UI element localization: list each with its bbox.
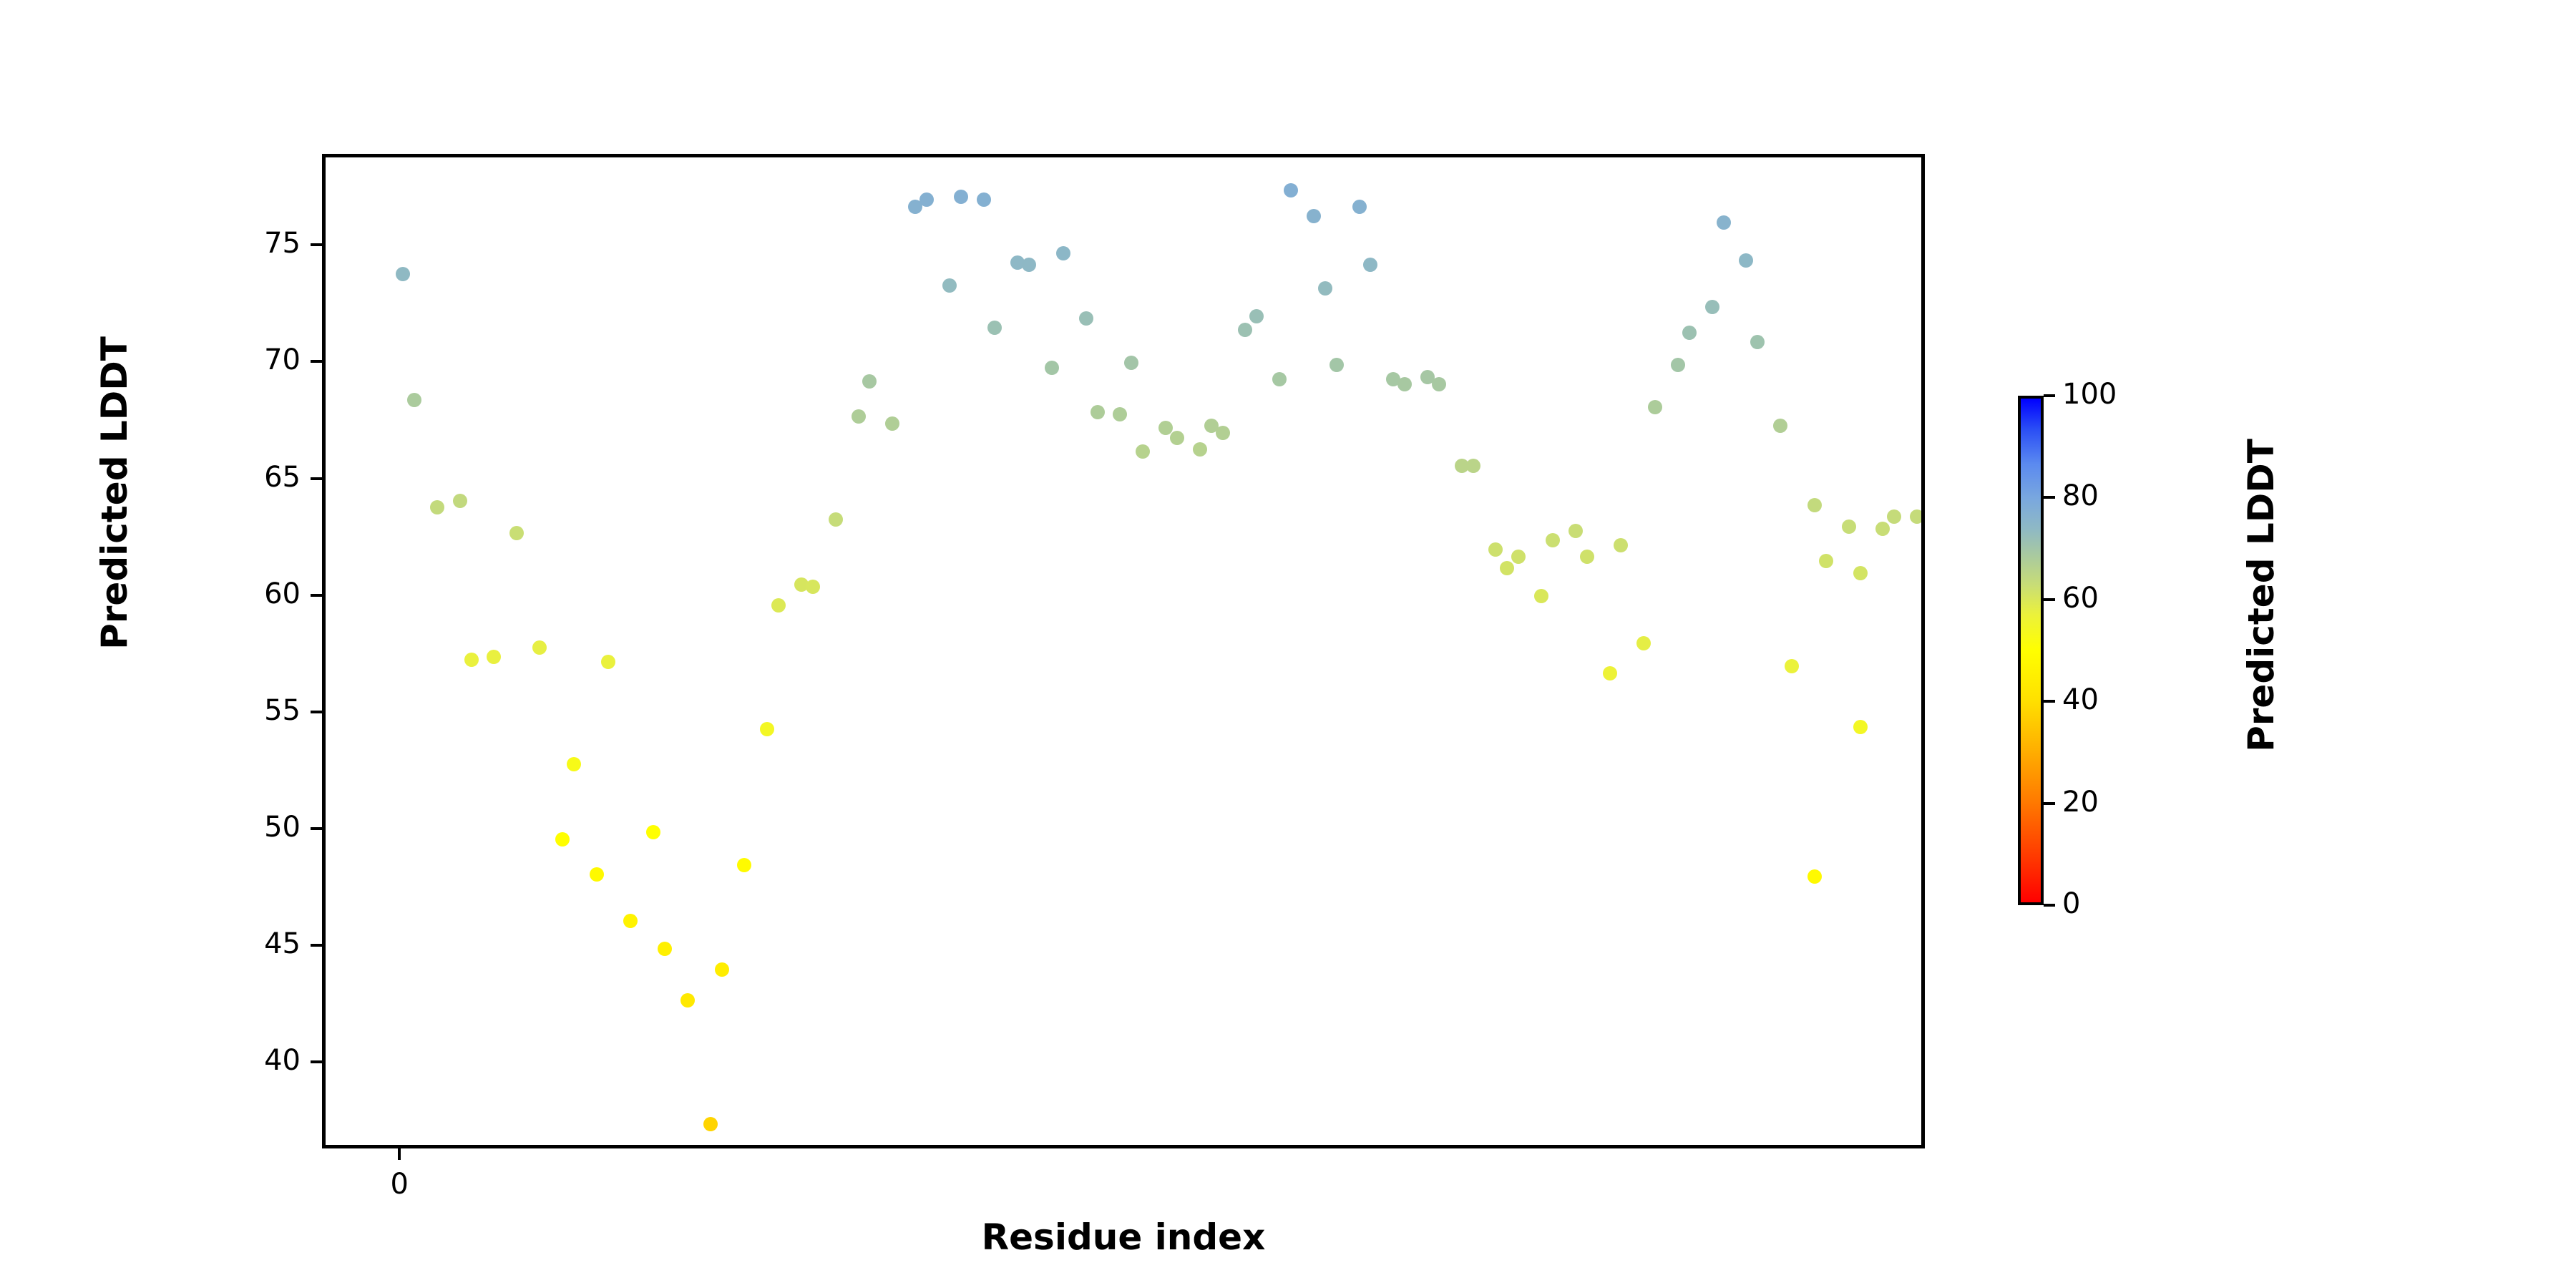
scatter-point (1272, 372, 1287, 386)
scatter-point (1580, 550, 1594, 564)
scatter-point (555, 832, 570, 847)
y-tick-mark (311, 827, 322, 830)
scatter-point (1807, 869, 1822, 884)
scatter-point (1636, 636, 1651, 650)
scatter-point (771, 598, 786, 613)
scatter-point (430, 500, 444, 514)
y-tick-mark (311, 360, 322, 363)
colorbar-title: Predicted LDDT (2240, 395, 2282, 796)
scatter-point (862, 374, 877, 389)
scatter-point (1397, 377, 1412, 391)
scatter-point (1284, 183, 1298, 197)
scatter-point (1875, 522, 1890, 536)
scatter-point (1216, 426, 1230, 440)
scatter-point (1045, 361, 1059, 375)
scatter-point (1363, 258, 1377, 272)
scatter-point (680, 993, 695, 1008)
scatter-point (1330, 358, 1344, 372)
x-tick-mark (398, 1148, 401, 1160)
scatter-point (509, 526, 524, 540)
scatter-point (590, 867, 604, 882)
scatter-point (1717, 215, 1731, 230)
y-tick-mark (311, 477, 322, 480)
colorbar-tick-mark (2044, 394, 2055, 397)
scatter-point (1648, 400, 1662, 414)
scatter-point (396, 267, 410, 281)
y-tick-mark (311, 243, 322, 246)
y-tick-label: 55 (264, 696, 301, 725)
colorbar-tick-label: 100 (2062, 380, 2117, 409)
scatter-point (1739, 253, 1753, 268)
scatter-point (1910, 509, 1921, 524)
scatter-point (715, 962, 729, 977)
colorbar-tick-label: 0 (2062, 889, 2080, 918)
y-tick-label: 65 (264, 463, 301, 492)
colorbar-tick-label: 60 (2062, 584, 2099, 613)
scatter-point (532, 640, 547, 655)
scatter-point (601, 655, 615, 669)
scatter-point (1671, 358, 1685, 372)
scatter-point (1853, 566, 1868, 580)
plot-axes (322, 154, 1925, 1148)
scatter-point (919, 192, 934, 207)
y-tick-label: 70 (264, 346, 301, 374)
scatter-point (1853, 720, 1868, 734)
scatter-point (567, 757, 581, 771)
scatter-points-layer (326, 157, 1921, 1145)
scatter-point (942, 278, 957, 293)
scatter-point (1466, 459, 1480, 473)
x-axis-title: Residue index (322, 1216, 1925, 1258)
y-axis-title: Predicted LDDT (94, 293, 135, 693)
scatter-point (1124, 356, 1138, 370)
scatter-point (1488, 542, 1503, 557)
colorbar-tick-label: 80 (2062, 482, 2099, 510)
scatter-point (1113, 407, 1127, 421)
scatter-point (487, 650, 501, 664)
scatter-point (1500, 561, 1514, 575)
colorbar-gradient (2018, 396, 2044, 905)
scatter-point (1193, 442, 1207, 457)
colorbar-tick-label: 20 (2062, 788, 2099, 816)
scatter-point (1546, 533, 1560, 547)
y-tick-label: 40 (264, 1046, 301, 1075)
colorbar-tick-mark (2044, 904, 2055, 907)
scatter-point (1170, 431, 1184, 445)
scatter-point (703, 1117, 718, 1131)
scatter-point (977, 192, 991, 207)
scatter-point (954, 190, 968, 204)
scatter-point (1603, 666, 1617, 680)
y-tick-label: 75 (264, 229, 301, 258)
y-tick-mark (311, 711, 322, 713)
scatter-point (852, 409, 866, 424)
scatter-point (760, 722, 774, 736)
scatter-point (1682, 326, 1697, 340)
scatter-point (1807, 498, 1822, 512)
scatter-point (464, 653, 479, 667)
scatter-point (407, 393, 421, 407)
scatter-point (806, 580, 820, 594)
y-tick-label: 50 (264, 813, 301, 841)
scatter-point (1568, 524, 1583, 538)
scatter-point (1307, 209, 1321, 223)
scatter-point (829, 512, 843, 527)
colorbar-tick-label: 40 (2062, 686, 2099, 714)
scatter-point (1352, 200, 1367, 214)
scatter-point (623, 914, 638, 928)
colorbar-tick-mark (2044, 802, 2055, 805)
scatter-point (646, 825, 660, 839)
scatter-point (1750, 335, 1765, 349)
scatter-point (453, 494, 467, 508)
scatter-point (1432, 377, 1446, 391)
colorbar-tick-mark (2044, 496, 2055, 499)
scatter-point (1887, 509, 1901, 524)
scatter-point (1705, 300, 1719, 314)
y-tick-label: 45 (264, 930, 301, 958)
x-tick-label: 0 (356, 1170, 442, 1199)
scatter-point (1022, 258, 1036, 272)
colorbar-tick-mark (2044, 598, 2055, 601)
scatter-point (1056, 246, 1070, 260)
scatter-point (1785, 659, 1799, 673)
scatter-point (658, 942, 672, 956)
colorbar-tick-mark (2044, 700, 2055, 703)
scatter-point (1318, 281, 1332, 296)
scatter-point (1091, 405, 1105, 419)
scatter-point (1136, 444, 1150, 459)
scatter-point (1249, 309, 1264, 323)
y-tick-mark (311, 594, 322, 597)
scatter-plot-figure: 4045505560657075 0 Predicted LDDT Residu… (0, 0, 2576, 1288)
scatter-point (1842, 519, 1856, 534)
scatter-point (1238, 323, 1252, 337)
scatter-point (1511, 550, 1526, 564)
y-tick-mark (311, 1060, 322, 1063)
scatter-point (1819, 554, 1833, 568)
scatter-point (737, 858, 751, 872)
y-tick-mark (311, 944, 322, 947)
scatter-point (1079, 311, 1093, 326)
scatter-point (987, 321, 1002, 335)
scatter-point (1773, 419, 1787, 433)
scatter-point (885, 416, 899, 431)
scatter-point (1614, 538, 1628, 552)
y-tick-label: 60 (264, 580, 301, 608)
scatter-point (1534, 589, 1548, 603)
